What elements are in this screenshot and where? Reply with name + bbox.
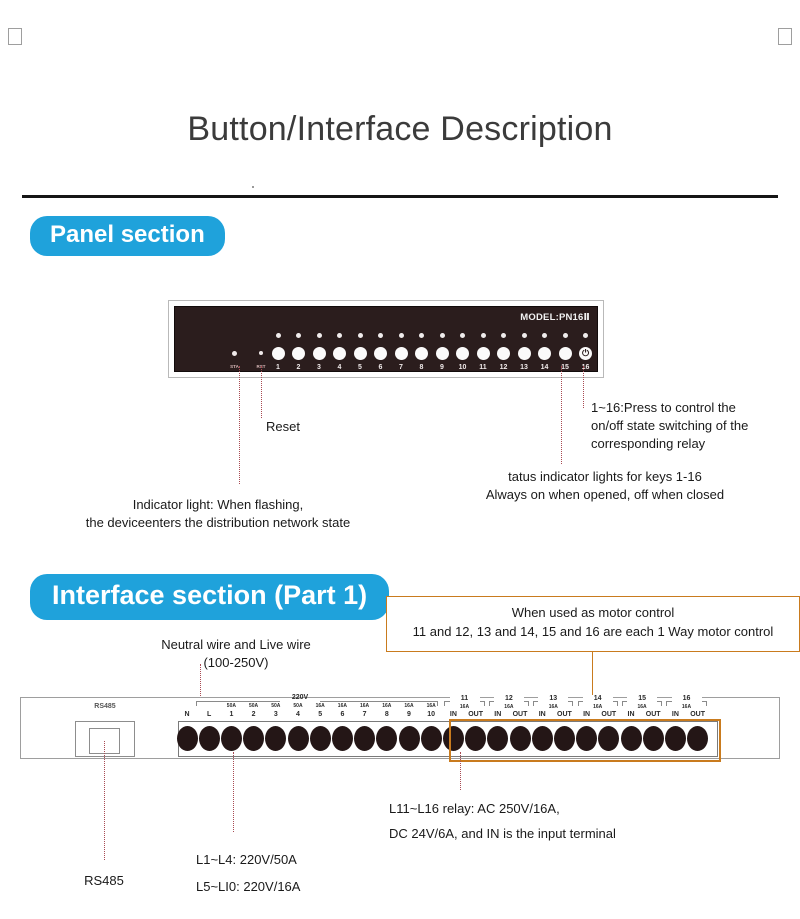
annotation-reset: Reset [266, 418, 300, 436]
status-led-8 [419, 333, 424, 338]
key-button-15[interactable] [559, 347, 572, 360]
terminal-hole-n [177, 726, 198, 751]
leader-line-l1l4 [233, 752, 234, 832]
key-number-7: 7 [394, 364, 408, 371]
key-number-12: 12 [497, 364, 511, 371]
status-led-11 [481, 333, 486, 338]
key-button-14[interactable] [538, 347, 551, 360]
key-button-13[interactable] [518, 347, 531, 360]
pair-amp-12: 16A [494, 704, 524, 710]
key-number-3: 3 [312, 364, 326, 371]
key-button-3[interactable] [313, 347, 326, 360]
key-number-1: 1 [271, 364, 285, 371]
key-number-9: 9 [435, 364, 449, 371]
status-led-13 [522, 333, 527, 338]
status-led-3 [317, 333, 322, 338]
key-button-8[interactable] [415, 347, 428, 360]
pair-amp-15: 16A [627, 704, 657, 710]
leader-line-relay [460, 752, 461, 790]
panel-face: MODEL:PN16Ⅱ STARST123456789101112131415⏻… [174, 306, 598, 372]
annotation-keys-1-16: 1~16:Press to control the on/off state s… [591, 399, 791, 453]
pair-amp-13: 16A [538, 704, 568, 710]
title-decoration-dot [252, 186, 254, 188]
motor-terminals-highlight [449, 719, 721, 762]
leader-line-rst [261, 366, 262, 418]
voltage-bracket-tick-left [196, 701, 197, 706]
indicator-sta [232, 351, 237, 356]
page-title: Button/Interface Description [0, 110, 800, 149]
key-number-16: 16 [579, 364, 593, 371]
status-led-6 [378, 333, 383, 338]
voltage-bracket-right [320, 701, 438, 702]
status-led-2 [296, 333, 301, 338]
key-number-5: 5 [353, 364, 367, 371]
status-led-14 [542, 333, 547, 338]
annotation-l1-l4: L1~L4: 220V/50A [196, 851, 297, 869]
key-number-11: 11 [476, 364, 490, 371]
key-button-4[interactable] [333, 347, 346, 360]
annotation-rs485: RS485 [54, 872, 154, 890]
status-led-12 [501, 333, 506, 338]
terminal-label-16-out: OUT [685, 711, 711, 718]
status-led-15 [563, 333, 568, 338]
key-button-11[interactable] [477, 347, 490, 360]
terminal-hole-6 [332, 726, 353, 751]
key-number-10: 10 [456, 364, 470, 371]
pair-number-16: 16 [672, 695, 702, 702]
terminal-right-tab [778, 28, 792, 45]
status-led-16 [583, 333, 588, 338]
title-divider-rule [22, 195, 778, 198]
key-number-2: 2 [292, 364, 306, 371]
pair-amp-11: 16A [450, 704, 480, 710]
pair-amp-16: 16A [672, 704, 702, 710]
key-number-13: 13 [517, 364, 531, 371]
terminal-hole-7 [354, 726, 375, 751]
key-number-8: 8 [415, 364, 429, 371]
status-led-10 [460, 333, 465, 338]
leader-line-key16 [583, 366, 584, 408]
key-button-2[interactable] [292, 347, 305, 360]
pair-amp-14: 16A [583, 704, 613, 710]
annotation-neutral-live: Neutral wire and Live wire (100-250V) [148, 636, 324, 672]
status-led-5 [358, 333, 363, 338]
rs485-port-label: RS485 [74, 703, 136, 710]
terminal-hole-4 [288, 726, 309, 751]
pair-number-11: 11 [450, 695, 480, 702]
terminal-hole-9 [399, 726, 420, 751]
terminal-hole-1 [221, 726, 242, 751]
device-front-panel: MODEL:PN16Ⅱ STARST123456789101112131415⏻… [168, 300, 604, 378]
leader-line-rs485 [104, 741, 105, 860]
pair-number-14: 14 [583, 695, 613, 702]
leader-line-key15 [561, 366, 562, 464]
indicator-rst [259, 351, 263, 355]
panel-section-badge: Panel section [30, 216, 225, 256]
status-led-1 [276, 333, 281, 338]
key-button-6[interactable] [374, 347, 387, 360]
leader-line-neutral [200, 664, 201, 700]
pair-number-15: 15 [627, 695, 657, 702]
key-number-4: 4 [333, 364, 347, 371]
pair-number-12: 12 [494, 695, 524, 702]
status-led-9 [440, 333, 445, 338]
key-button-1[interactable] [272, 347, 285, 360]
interface-section-badge: Interface section (Part 1) [30, 574, 389, 620]
terminal-hole-10 [421, 726, 442, 751]
voltage-bracket-tick-right [437, 701, 438, 706]
terminal-hole-l [199, 726, 220, 751]
annotation-l5-l10: L5~LI0: 220V/16A [196, 878, 300, 896]
annotation-relay-spec: L11~L16 relay: AC 250V/16A, DC 24V/6A, a… [389, 796, 719, 846]
key-button-5[interactable] [354, 347, 367, 360]
status-led-4 [337, 333, 342, 338]
key-button-10[interactable] [456, 347, 469, 360]
annotation-status-lights: tatus indicator lights for keys 1-16 Alw… [455, 468, 755, 504]
key-number-6: 6 [374, 364, 388, 371]
pair-number-13: 13 [538, 695, 568, 702]
power-icon: ⏻ [580, 348, 591, 359]
voltage-bracket-left [196, 701, 280, 702]
voltage-220v-label: 220V [280, 694, 320, 701]
motor-control-callout: When used as motor control 11 and 12, 13… [386, 596, 800, 652]
status-led-7 [399, 333, 404, 338]
terminal-left-tab [8, 28, 22, 45]
key-number-14: 14 [538, 364, 552, 371]
leader-line-sta [239, 366, 240, 484]
key-button-9[interactable] [436, 347, 449, 360]
annotation-indicator-light: Indicator light: When flashing, the devi… [38, 496, 398, 532]
terminal-hole-5 [310, 726, 331, 751]
terminal-hole-2 [243, 726, 264, 751]
panel-model-label: MODEL:PN16Ⅱ [520, 312, 590, 323]
key-button-7[interactable] [395, 347, 408, 360]
key-button-12[interactable] [497, 347, 510, 360]
terminal-amp-10: 16A [418, 703, 444, 709]
